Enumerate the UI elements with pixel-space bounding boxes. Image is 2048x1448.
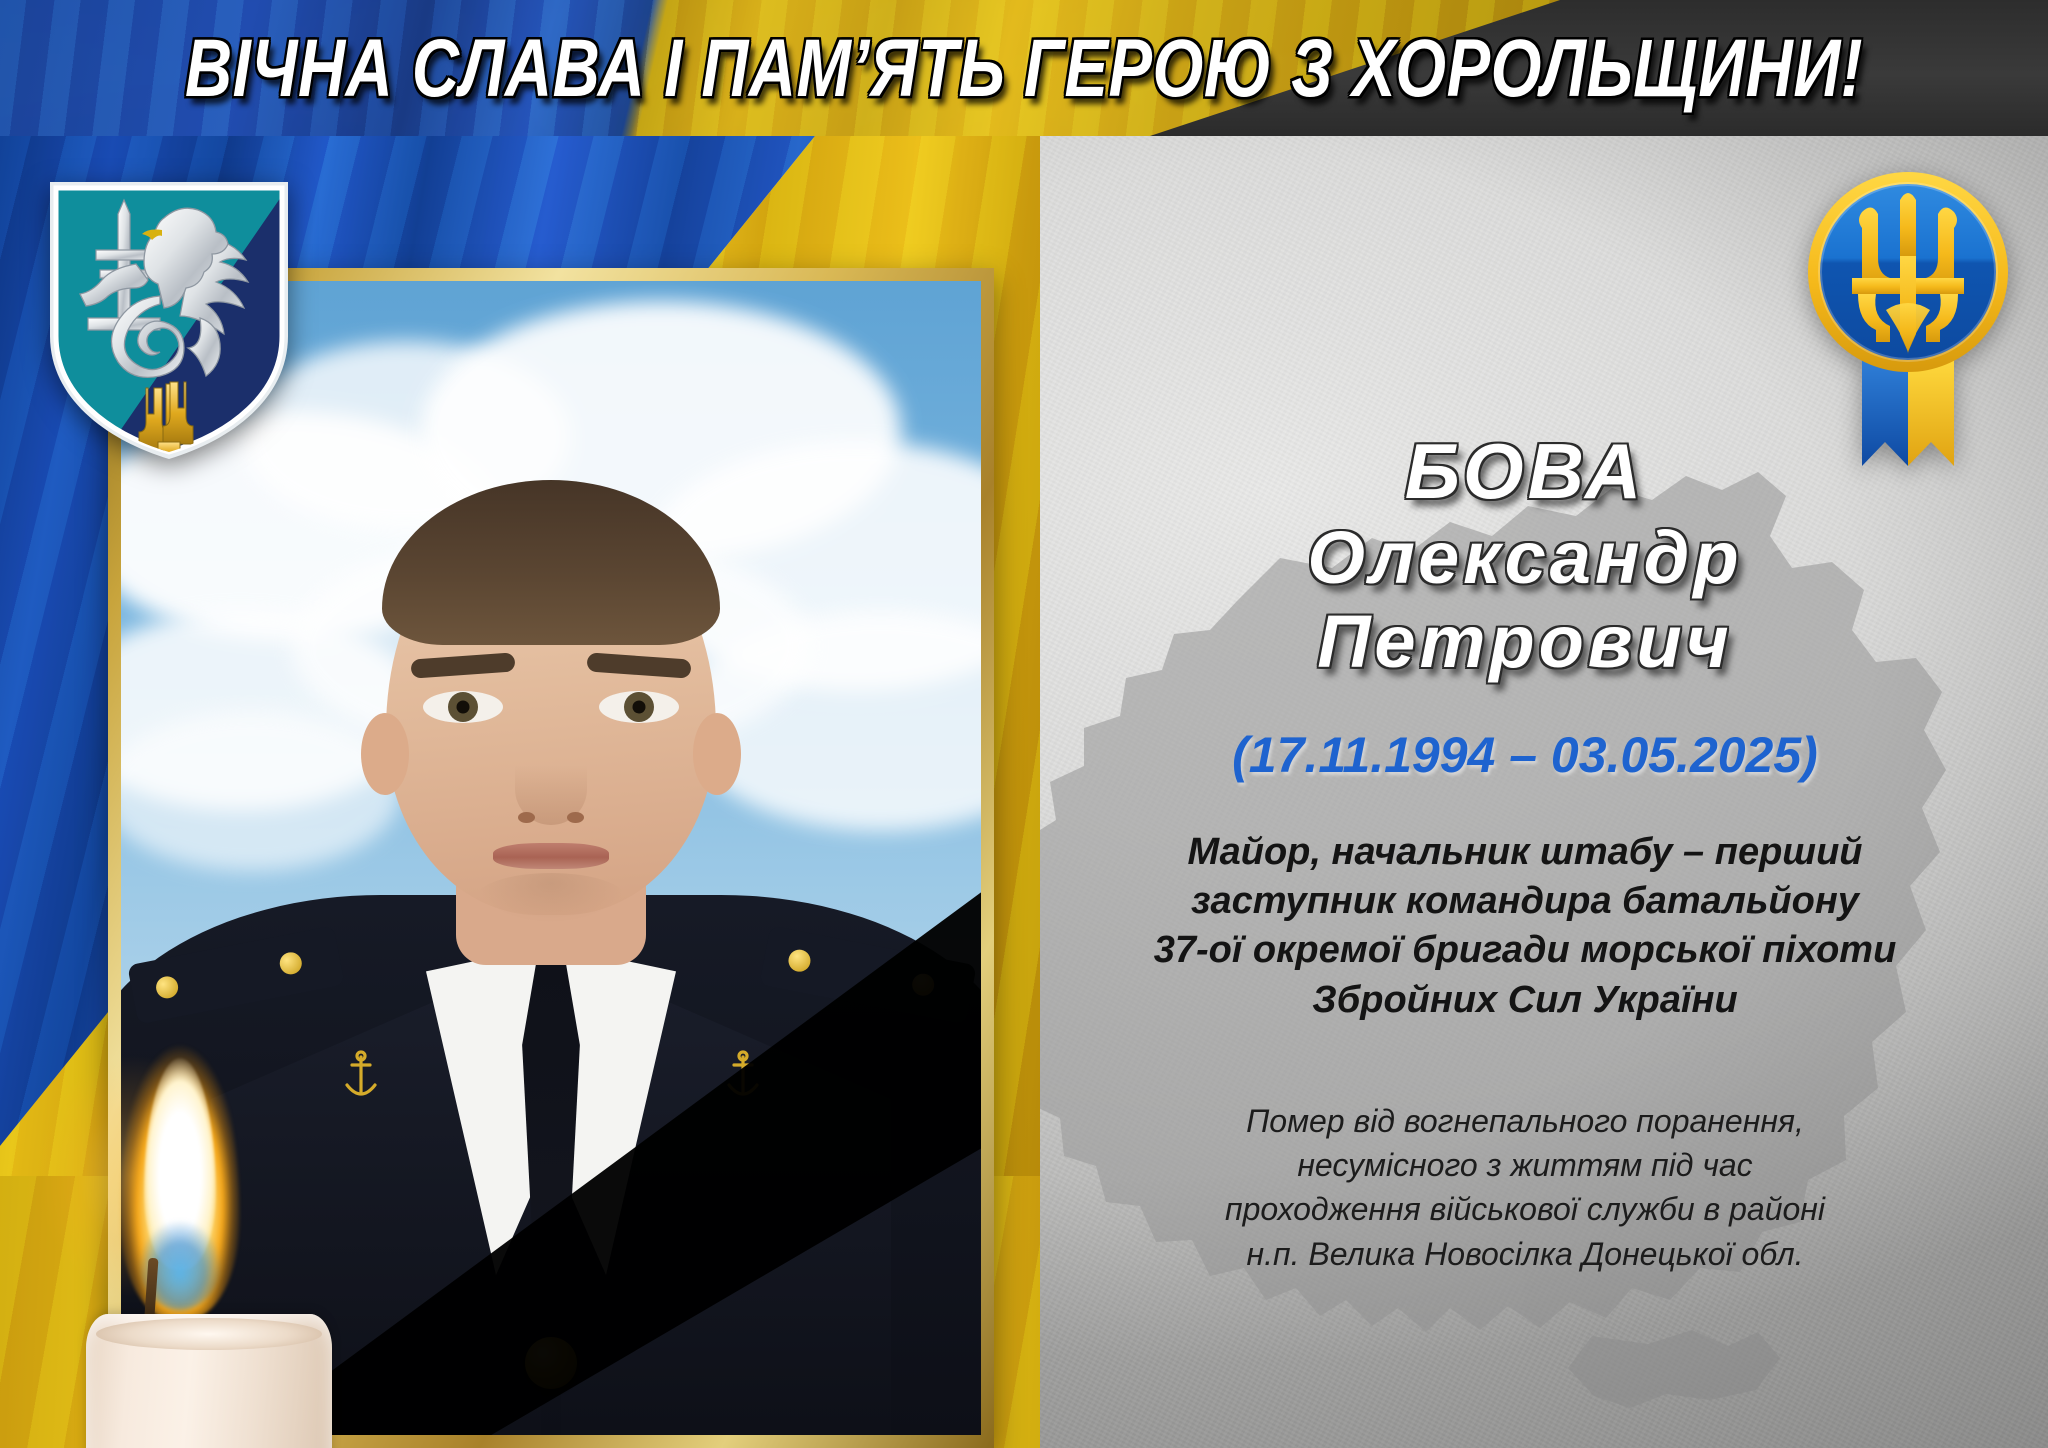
candle-flame	[120, 1020, 240, 1320]
circumstances-line: проходження військової служби в районі	[1060, 1187, 1990, 1231]
epaulette-star	[787, 948, 813, 974]
hero-patronymic: Петрович	[1060, 603, 1990, 681]
brigade-37-marine-shield-icon	[44, 178, 294, 460]
hero-circumstances: Помер від вогнепального поранення, несум…	[1060, 1099, 1990, 1276]
page-title: ВІЧНА СЛАВА І ПАМ’ЯТЬ ГЕРОЮ З ХОРОЛЬЩИНИ…	[0, 0, 2048, 136]
nose	[515, 725, 587, 825]
pupil	[457, 701, 470, 714]
epaulette-star	[154, 974, 180, 1000]
rank-line: Майор, начальник штабу – перший	[1060, 828, 1990, 877]
nostril-right	[567, 812, 584, 823]
rank-line: Збройних Сил України	[1060, 976, 1990, 1025]
hero-name: БОВА Олександр Петрович	[1060, 430, 1990, 682]
rank-line: 37-ої окремої бригади морської піхоти	[1060, 926, 1990, 975]
hero-rank-position: Майор, начальник штабу – перший заступни…	[1060, 828, 1990, 1026]
ear-right	[693, 713, 741, 795]
ukraine-trident-medal-icon	[1800, 160, 2016, 470]
candle-wax-body	[86, 1314, 332, 1448]
hero-life-dates: (17.11.1994 – 03.05.2025)	[1060, 726, 1990, 784]
epaulette-star	[278, 950, 304, 976]
header-bar: ВІЧНА СЛАВА І ПАМ’ЯТЬ ГЕРОЮ З ХОРОЛЬЩИНИ…	[0, 0, 2048, 136]
eye-left	[423, 691, 503, 723]
pupil	[633, 701, 646, 714]
memorial-poster: ВІЧНА СЛАВА І ПАМ’ЯТЬ ГЕРОЮ З ХОРОЛЬЩИНИ…	[0, 0, 2048, 1448]
circumstances-line: несумісного з життям під час	[1060, 1143, 1990, 1187]
memorial-text-column: БОВА Олександр Петрович (17.11.1994 – 03…	[1060, 430, 1990, 1276]
hero-surname: БОВА	[1060, 430, 1990, 513]
nostril-left	[518, 812, 535, 823]
eye-right	[599, 691, 679, 723]
circumstances-line: Помер від вогнепального поранення,	[1060, 1099, 1990, 1143]
rank-line: заступник командира батальйону	[1060, 877, 1990, 926]
memorial-candle-icon	[62, 1020, 362, 1448]
circumstances-line: н.п. Велика Новосілка Донецької обл.	[1060, 1232, 1990, 1276]
mouth	[493, 843, 609, 869]
chin	[476, 873, 626, 923]
ear-left	[361, 713, 409, 795]
hero-given-name: Олександр	[1060, 519, 1990, 597]
